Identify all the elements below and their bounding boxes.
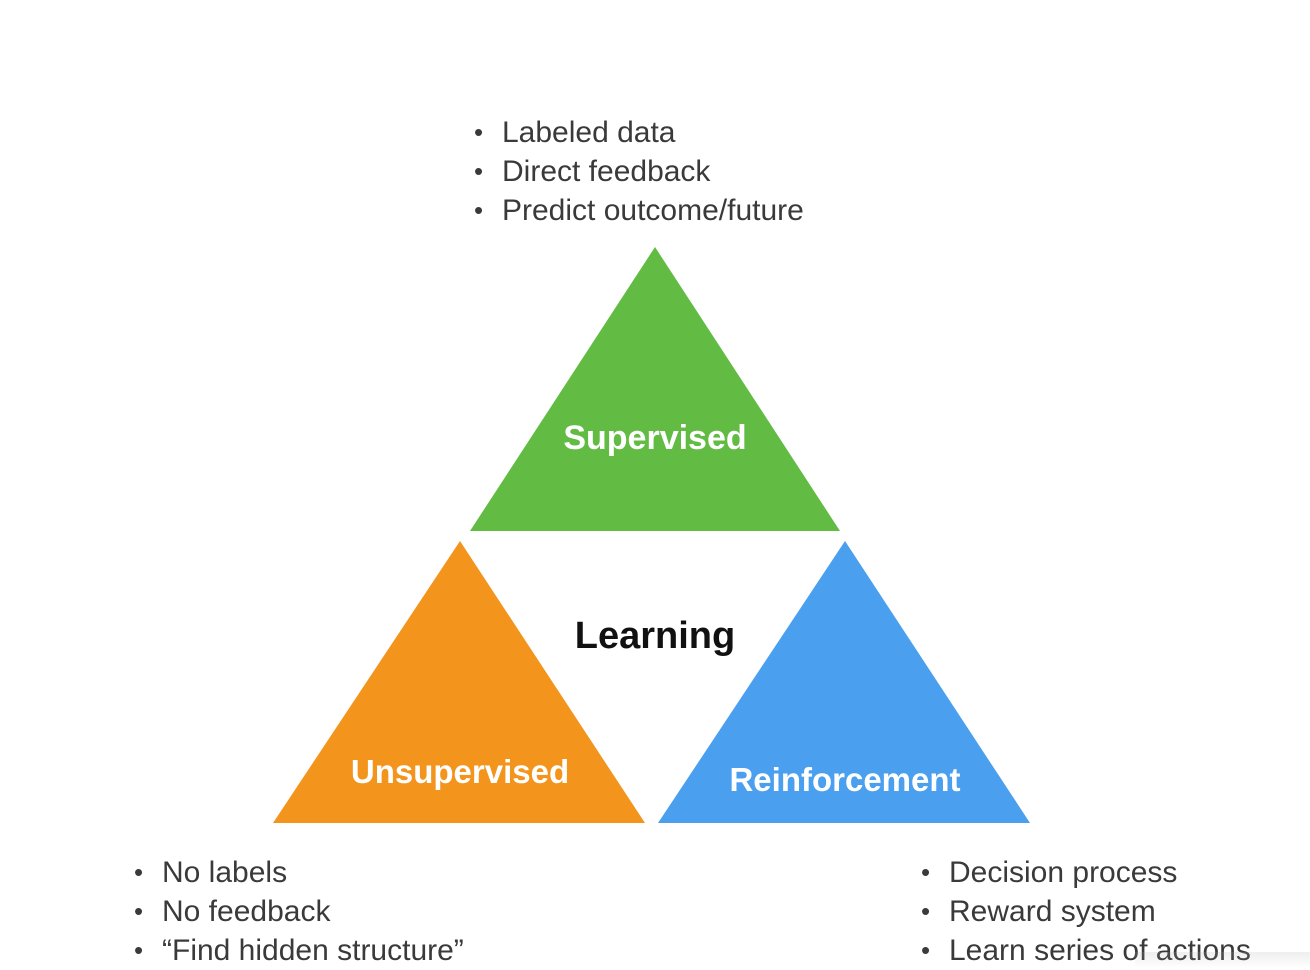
list-item: Labeled data xyxy=(468,113,804,152)
bullet-text: No feedback xyxy=(162,895,330,928)
supervised-label: Supervised xyxy=(563,419,746,457)
bullet-text: Learn series of actions xyxy=(949,934,1251,967)
reinforcement-bullet-list: Decision process Reward system Learn ser… xyxy=(915,853,1251,970)
node-unsupervised[interactable]: Unsupervised xyxy=(273,541,645,823)
list-item: Direct feedback xyxy=(468,152,804,191)
bullet-text: No labels xyxy=(162,856,287,889)
node-reinforcement[interactable]: Reinforcement xyxy=(658,541,1030,823)
unsupervised-bullet-list: No labels No feedback “Find hidden struc… xyxy=(128,853,464,970)
bullet-text: “Find hidden structure” xyxy=(162,934,464,967)
list-item: Predict outcome/future xyxy=(468,191,804,230)
list-item: Decision process xyxy=(915,853,1251,892)
bullet-text: Direct feedback xyxy=(502,155,710,188)
reinforcement-label: Reinforcement xyxy=(729,761,960,798)
unsupervised-label: Unsupervised xyxy=(351,753,569,790)
bullet-text: Reward system xyxy=(949,895,1156,928)
center-label: Learning xyxy=(575,615,735,657)
bullet-text: Decision process xyxy=(949,856,1177,889)
list-item: No labels xyxy=(128,853,464,892)
list-item: Learn series of actions xyxy=(915,931,1251,970)
list-item: No feedback xyxy=(128,892,464,931)
bullet-text: Predict outcome/future xyxy=(502,194,804,227)
supervised-triangle[interactable] xyxy=(470,247,840,531)
supervised-bullet-list: Labeled data Direct feedback Predict out… xyxy=(468,113,804,230)
bullet-text: Labeled data xyxy=(502,116,676,149)
node-supervised[interactable]: Supervised xyxy=(470,247,840,531)
list-item: Reward system xyxy=(915,892,1251,931)
list-item: “Find hidden structure” xyxy=(128,931,464,970)
